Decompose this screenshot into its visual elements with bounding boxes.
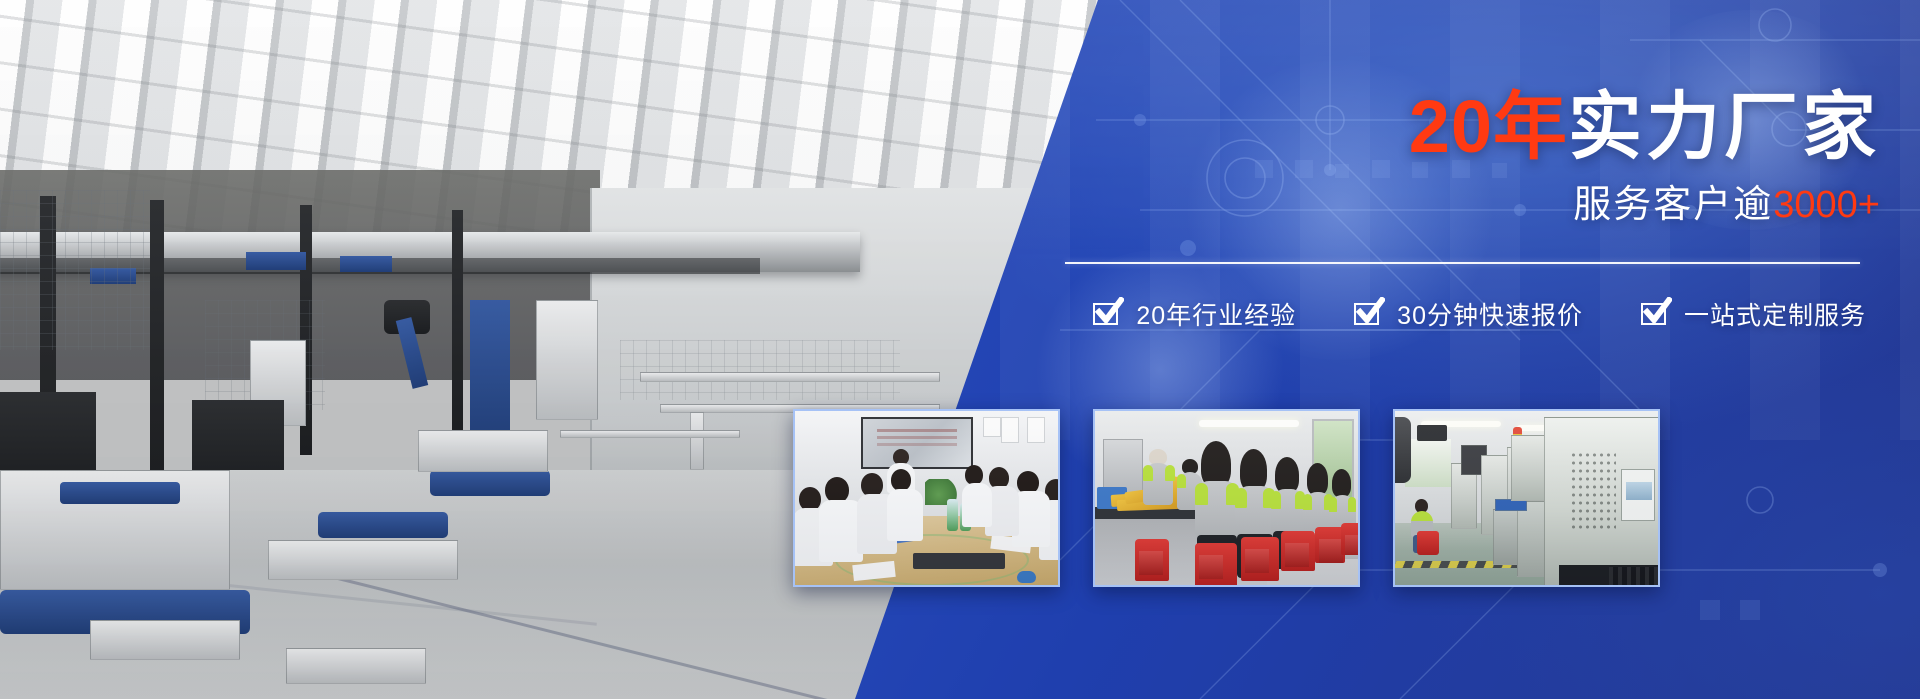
feature-list: 20年行业经验 30分钟快速报价 一站式定制服务 [1020, 296, 1880, 332]
feature-item-experience: 20年行业经验 [1093, 296, 1296, 332]
feature-label: 20年行业经验 [1136, 296, 1296, 332]
banner-subline: 服务客户逾3000+ [1020, 186, 1880, 224]
headline-text: 实力厂家 [1568, 85, 1880, 168]
checkbox-checked-icon [1354, 301, 1384, 327]
cnc-machine-shop-photo[interactable] [1393, 409, 1660, 587]
copy-divider [1065, 262, 1860, 264]
banner-headline: 20年实力厂家 [1020, 90, 1880, 164]
banner-copy: 20年实力厂家 服务客户逾3000+ 20年行业经验 [1020, 0, 1880, 332]
feature-label: 一站式定制服务 [1684, 296, 1866, 332]
checkbox-checked-icon [1641, 301, 1671, 327]
thumbnail-strip [793, 409, 1660, 587]
assembly-line-photo[interactable] [1093, 409, 1360, 587]
meeting-room-photo[interactable] [793, 409, 1060, 587]
feature-item-fast-quote: 30分钟快速报价 [1354, 296, 1583, 332]
checkbox-checked-icon [1093, 301, 1123, 327]
feature-item-one-stop-service: 一站式定制服务 [1641, 296, 1866, 332]
subline-text: 服务客户逾 [1573, 184, 1773, 226]
subline-number: 3000+ [1773, 184, 1880, 226]
headline-number: 20年 [1409, 85, 1568, 168]
feature-label: 30分钟快速报价 [1397, 296, 1583, 332]
promo-banner: 20年实力厂家 服务客户逾3000+ 20年行业经验 [0, 0, 1920, 699]
